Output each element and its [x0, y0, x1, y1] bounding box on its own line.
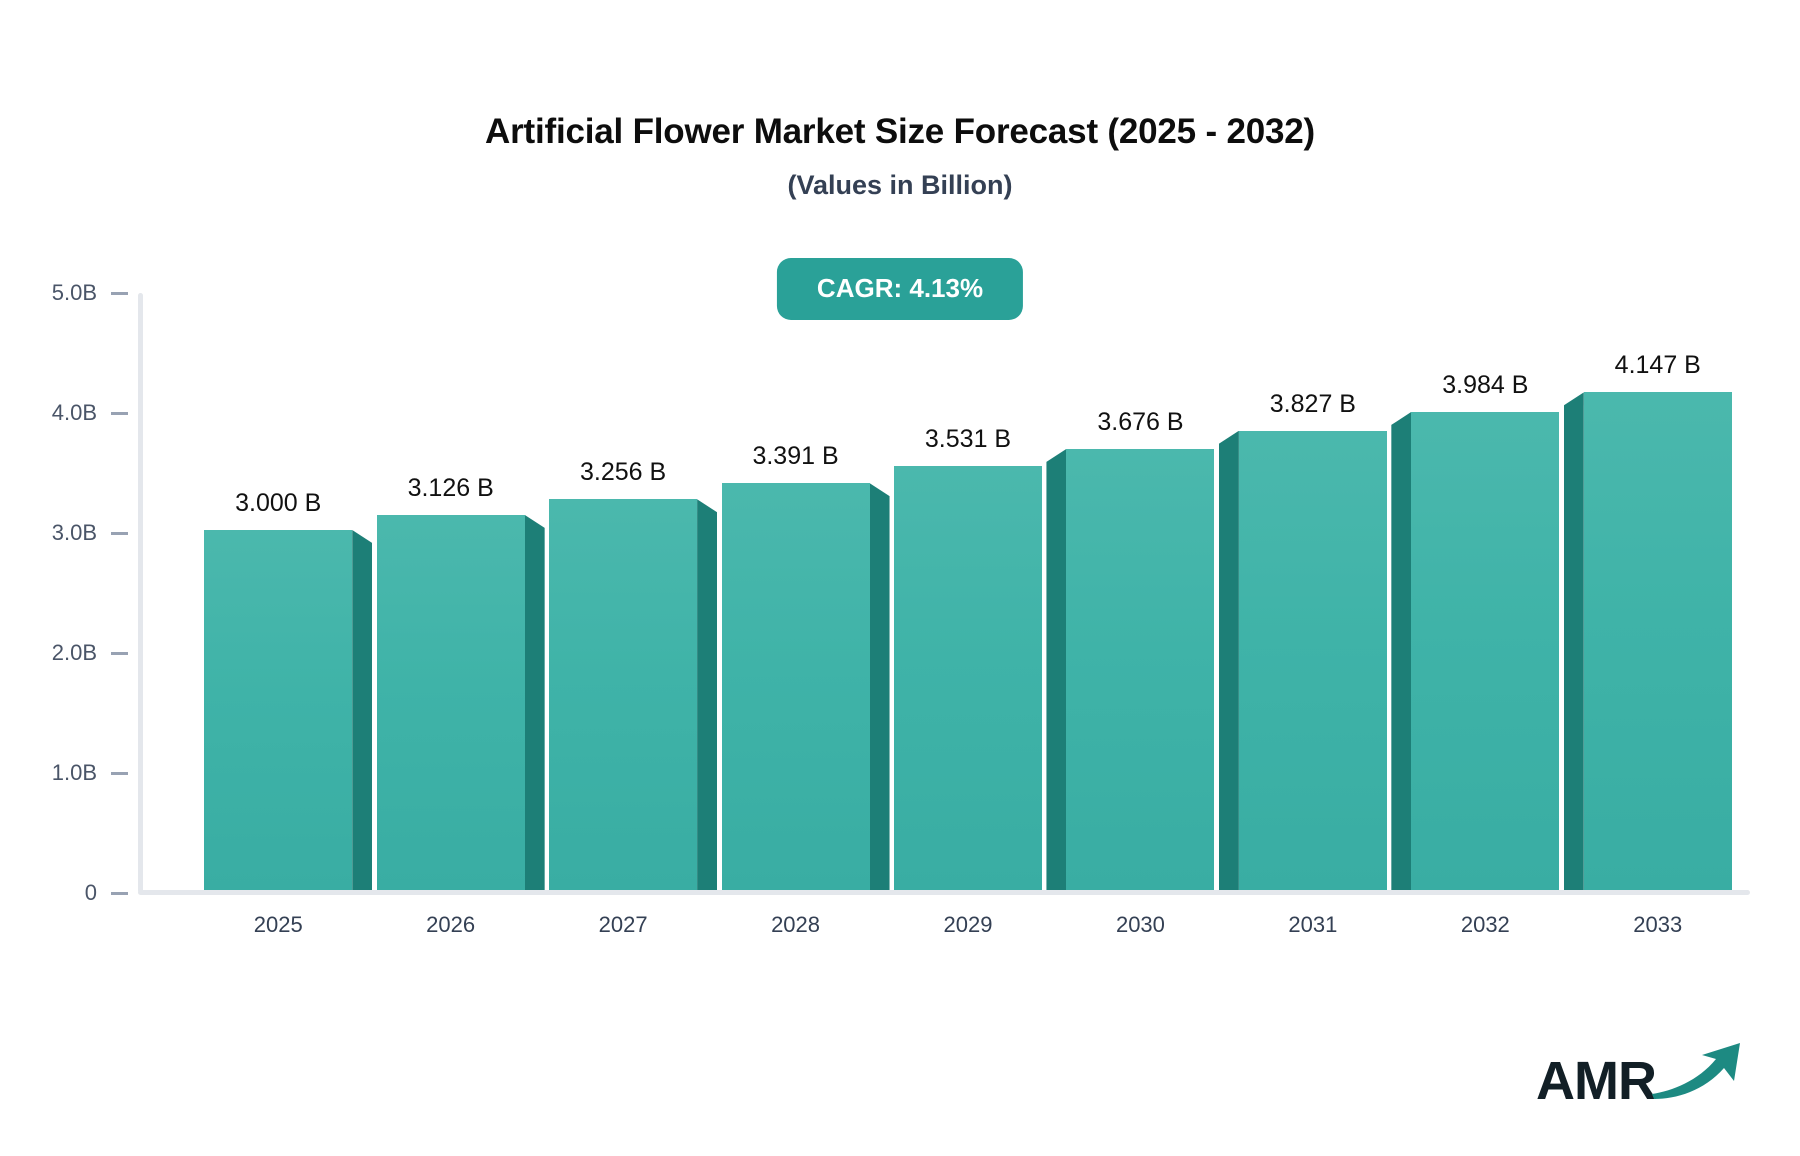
bar-2026[interactable]: 3.126 B	[377, 515, 525, 890]
bar-body	[204, 530, 352, 890]
y-axis-tick-mark	[111, 892, 128, 895]
y-axis-tick: 2.0B	[18, 640, 138, 666]
y-axis-tick-label: 4.0B	[52, 400, 97, 426]
y-axis-tick-label: 5.0B	[52, 280, 97, 306]
y-axis-tick: 1.0B	[18, 760, 138, 786]
growth-arrow-icon	[1650, 1041, 1746, 1106]
bar-side-face	[870, 483, 890, 890]
x-axis-label-2030: 2030	[1116, 912, 1165, 938]
bar-value-label: 3.391 B	[752, 442, 838, 471]
bar-value-label: 3.827 B	[1270, 390, 1356, 419]
y-axis-tick: 0	[18, 880, 138, 906]
x-axis-label-2032: 2032	[1461, 912, 1510, 938]
bar-side-face	[1564, 392, 1584, 890]
y-axis-tick-mark	[111, 412, 128, 415]
chart-container: Artificial Flower Market Size Forecast (…	[0, 0, 1800, 1156]
bar-2030[interactable]: 3.676 B	[1066, 449, 1214, 890]
y-axis-tick-label: 0	[85, 880, 97, 906]
y-axis-tick-label: 1.0B	[52, 760, 97, 786]
bar-body	[1066, 449, 1214, 890]
bar-front-face	[549, 499, 697, 890]
bar-front-face	[1411, 412, 1559, 890]
bar-value-label: 3.531 B	[925, 425, 1011, 454]
y-axis-tick-mark	[111, 652, 128, 655]
x-axis-label-2026: 2026	[426, 912, 475, 938]
bar-side-face	[525, 515, 545, 890]
bar-body	[1584, 392, 1732, 890]
x-axis-label-2027: 2027	[599, 912, 648, 938]
bars-layer: 3.000 B3.126 B3.256 B3.391 B3.531 B3.676…	[138, 293, 1750, 893]
y-axis-tick-label: 2.0B	[52, 640, 97, 666]
bar-body	[1411, 412, 1559, 890]
chart-title: Artificial Flower Market Size Forecast (…	[0, 112, 1800, 152]
bar-front-face	[377, 515, 525, 890]
x-axis-label-2025: 2025	[254, 912, 303, 938]
y-axis-tick: 5.0B	[18, 280, 138, 306]
bar-value-label: 3.000 B	[235, 489, 321, 518]
bar-side-face	[352, 530, 372, 890]
chart-subtitle: (Values in Billion)	[0, 170, 1800, 201]
bar-body	[377, 515, 525, 890]
bar-2033[interactable]: 4.147 B	[1584, 392, 1732, 890]
y-axis-tick-mark	[111, 532, 128, 535]
bar-front-face	[1066, 449, 1214, 890]
amr-logo-text: AMR	[1536, 1054, 1656, 1108]
x-axis-label-2033: 2033	[1633, 912, 1682, 938]
bar-2031[interactable]: 3.827 B	[1239, 431, 1387, 890]
x-axis-label-2029: 2029	[944, 912, 993, 938]
x-axis-label-2031: 2031	[1288, 912, 1337, 938]
y-axis-tick-label: 3.0B	[52, 520, 97, 546]
bar-2025[interactable]: 3.000 B	[204, 530, 352, 890]
bar-2028[interactable]: 3.391 B	[722, 483, 870, 890]
bar-side-face	[1219, 431, 1239, 890]
bar-value-label: 3.256 B	[580, 458, 666, 487]
x-axis-labels: 202520262027202820292030203120322033	[138, 912, 1750, 952]
bar-2027[interactable]: 3.256 B	[549, 499, 697, 890]
x-axis-label-2028: 2028	[771, 912, 820, 938]
bar-value-label: 3.126 B	[408, 474, 494, 503]
bar-body	[1239, 431, 1387, 890]
bar-2032[interactable]: 3.984 B	[1411, 412, 1559, 890]
bar-body	[549, 499, 697, 890]
bar-value-label: 4.147 B	[1615, 351, 1701, 380]
bar-front-face	[894, 466, 1042, 890]
bar-side-face	[1391, 412, 1411, 890]
bar-side-face	[1046, 449, 1066, 890]
bar-front-face	[722, 483, 870, 890]
bar-body	[894, 466, 1042, 890]
y-axis-tick: 3.0B	[18, 520, 138, 546]
bar-2029[interactable]: 3.531 B	[894, 466, 1042, 890]
bar-side-face	[697, 499, 717, 890]
amr-logo: AMR	[1536, 1041, 1746, 1108]
bar-front-face	[1584, 392, 1732, 890]
bar-front-face	[1239, 431, 1387, 890]
bar-value-label: 3.984 B	[1442, 371, 1528, 400]
y-axis-tick: 4.0B	[18, 400, 138, 426]
bar-front-face	[204, 530, 352, 890]
y-axis-tick-mark	[111, 292, 128, 295]
y-axis-tick-mark	[111, 772, 128, 775]
plot-area: 01.0B2.0B3.0B4.0B5.0B 3.000 B3.126 B3.25…	[138, 293, 1750, 893]
bar-value-label: 3.676 B	[1097, 408, 1183, 437]
bar-body	[722, 483, 870, 890]
